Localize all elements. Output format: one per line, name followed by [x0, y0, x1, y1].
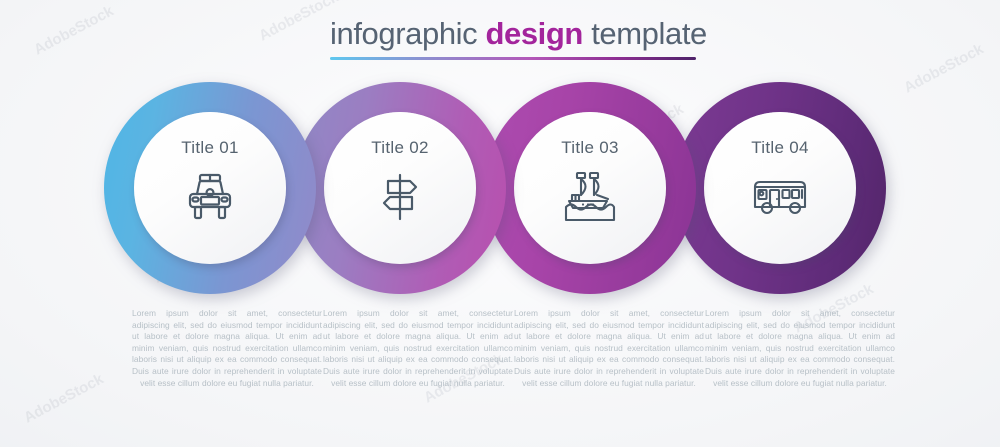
- step-circle-2[interactable]: Title 02: [294, 82, 506, 294]
- title-word-template: template: [583, 16, 707, 51]
- infographic-canvas: AdobeStock AdobeStock AdobeStock AdobeSt…: [0, 0, 1000, 447]
- description-column-4: Lorem ipsum dolor sit amet, consectetur …: [705, 308, 895, 389]
- description-columns: Lorem ipsum dolor sit amet, consectetur …: [0, 308, 1000, 428]
- sailing-ship-icon: [561, 170, 619, 224]
- road-signpost-icon: [371, 170, 429, 224]
- step-circle-4[interactable]: Title 04: [674, 82, 886, 294]
- step-title-1: Title 01: [181, 138, 239, 158]
- step-disc-1: Title 01: [134, 112, 286, 264]
- step-title-3: Title 03: [561, 138, 619, 158]
- description-text-2: Lorem ipsum dolor sit amet, consectetur …: [323, 308, 513, 389]
- step-title-2: Title 02: [371, 138, 429, 158]
- bus-side-icon: [751, 170, 809, 224]
- title-underline-rule: [330, 57, 696, 60]
- step-circle-3[interactable]: Title 03: [484, 82, 696, 294]
- step-circles-row: Title 01: [0, 82, 1000, 297]
- description-text-1: Lorem ipsum dolor sit amet, consectetur …: [132, 308, 322, 389]
- description-column-1: Lorem ipsum dolor sit amet, consectetur …: [132, 308, 322, 389]
- title-word-design: design: [485, 16, 583, 51]
- page-title-block: infographic design template: [330, 18, 690, 60]
- description-column-2: Lorem ipsum dolor sit amet, consectetur …: [323, 308, 513, 389]
- step-disc-3: Title 03: [514, 112, 666, 264]
- description-column-3: Lorem ipsum dolor sit amet, consectetur …: [514, 308, 704, 389]
- description-text-4: Lorem ipsum dolor sit amet, consectetur …: [705, 308, 895, 389]
- step-disc-4: Title 04: [704, 112, 856, 264]
- step-title-4: Title 04: [751, 138, 809, 158]
- title-word-infographic: infographic: [330, 16, 485, 51]
- watermark: AdobeStock: [256, 0, 341, 45]
- watermark: AdobeStock: [31, 2, 116, 58]
- description-text-3: Lorem ipsum dolor sit amet, consectetur …: [514, 308, 704, 389]
- page-title: infographic design template: [330, 18, 690, 51]
- step-disc-2: Title 02: [324, 112, 476, 264]
- police-car-front-icon: [181, 170, 239, 224]
- step-circle-1[interactable]: Title 01: [104, 82, 316, 294]
